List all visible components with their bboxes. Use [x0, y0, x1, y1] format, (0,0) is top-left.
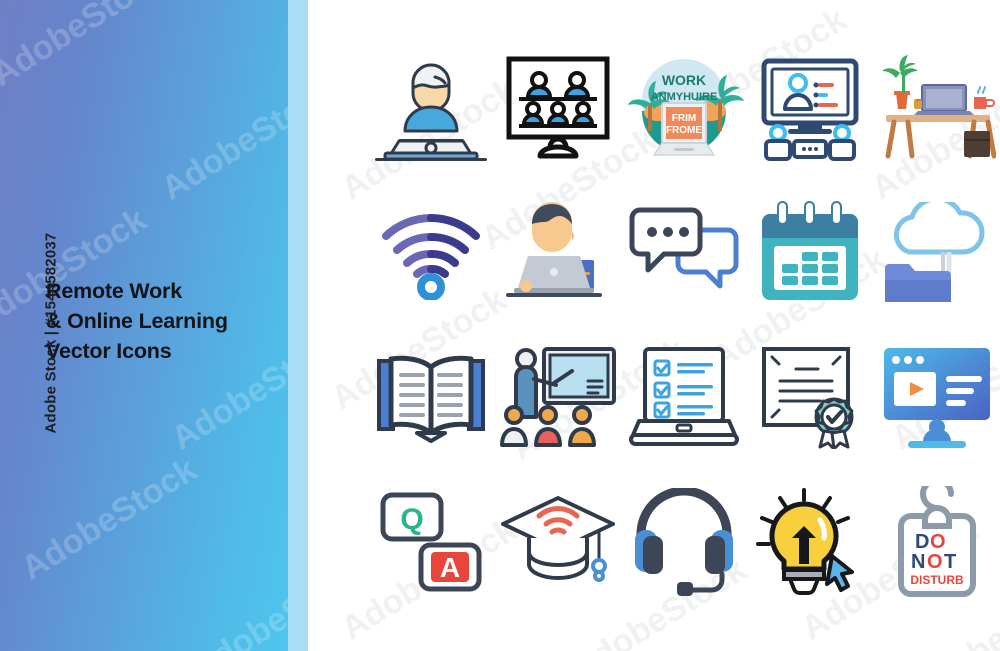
teacher-with-whiteboard-icon [500, 345, 616, 449]
icon-cell-video-conference-grid[interactable] [494, 34, 620, 179]
icon-cell-do-not-disturb-hanger[interactable]: D O N O T DISTURB [874, 469, 1000, 614]
remote-worker-at-desk-icon [502, 200, 614, 304]
accent-strip [288, 0, 308, 651]
online-quiz-checklist-icon [629, 345, 739, 449]
idea-lightbulb-cursor-icon [754, 488, 866, 596]
icon-cell-work-from-anywhere-badge[interactable]: WORK ANMYHUIRE FRIM FROME [621, 34, 747, 179]
dnd-do-letter-o: O [930, 531, 946, 553]
video-lesson-window-icon [880, 344, 994, 450]
video-conference-grid-icon [503, 53, 613, 161]
icon-cell-teacher-with-whiteboard[interactable] [494, 324, 620, 469]
icon-cell-man-working-on-laptop[interactable] [368, 34, 494, 179]
icon-grid: WORK ANMYHUIRE FRIM FROME [368, 34, 1000, 614]
dnd-not-letter-t: T [944, 551, 956, 573]
stock-image-canvas: AdobeStock AdobeStock AdobeStock AdobeSt… [0, 0, 1000, 651]
icon-cell-chat-bubbles[interactable] [621, 179, 747, 324]
answer-card-letter: A [440, 552, 460, 583]
webinar-presentation-screen-icon [754, 53, 866, 161]
icon-cell-online-quiz-checklist[interactable] [621, 324, 747, 469]
question-card-letter: Q [401, 503, 424, 536]
work-badge-screen1: FRIM [672, 113, 696, 124]
wifi-signal-icon [378, 204, 484, 300]
icon-cell-cloud-storage-folder[interactable] [874, 179, 1000, 324]
stock-credit-line: Adobe Stock | #1544582037 [43, 184, 60, 434]
dnd-not-letter-o: O [927, 551, 943, 573]
dnd-disturb-word: DISTURB [910, 573, 964, 587]
work-badge-screen2: FROME [666, 125, 702, 136]
certificate-with-seal-icon [754, 345, 866, 449]
dnd-do-letter-d: D [915, 531, 929, 553]
watermark-text: AdobeStock [185, 550, 288, 651]
chat-bubbles-icon [628, 204, 740, 300]
left-title-panel: AdobeStock AdobeStock AdobeStock AdobeSt… [0, 0, 288, 651]
icon-cell-open-book[interactable] [368, 324, 494, 469]
icon-cell-idea-lightbulb-cursor[interactable] [747, 469, 873, 614]
open-book-icon [375, 349, 487, 445]
headset-with-mic-icon [629, 488, 739, 596]
watermark-text: AdobeStock [0, 0, 174, 95]
home-office-desk-icon [878, 53, 996, 161]
icon-cell-wifi-signal[interactable] [368, 179, 494, 324]
do-not-disturb-hanger-icon: D O N O T DISTURB [889, 486, 985, 598]
man-working-on-laptop-icon [375, 53, 487, 161]
icon-cell-webinar-presentation-screen[interactable] [747, 34, 873, 179]
icon-cell-headset-with-mic[interactable] [621, 469, 747, 614]
icon-cell-remote-worker-at-desk[interactable] [494, 179, 620, 324]
dnd-not-letter-n: N [911, 551, 925, 573]
icon-cell-question-answer-cards[interactable]: Q A [368, 469, 494, 614]
icon-cell-graduation-cap-wifi[interactable] [494, 469, 620, 614]
calendar-schedule-icon [758, 200, 862, 304]
work-badge-line2: ANMYHUIRE [651, 91, 718, 103]
page-title: Remote Work & Online Learning Vector Ico… [46, 276, 286, 366]
work-from-anywhere-badge-icon: WORK ANMYHUIRE FRIM FROME [624, 51, 744, 163]
question-answer-cards-icon: Q A [379, 489, 483, 595]
icon-cell-video-lesson-window[interactable] [874, 324, 1000, 469]
watermark-text: AdobeStock [155, 70, 288, 208]
graduation-cap-wifi-icon [499, 492, 617, 592]
icon-cell-calendar-schedule[interactable] [747, 179, 873, 324]
icon-cell-home-office-desk[interactable] [874, 34, 1000, 179]
watermark-text: AdobeStock [15, 450, 204, 588]
icon-cell-certificate-with-seal[interactable] [747, 324, 873, 469]
work-badge-line1: WORK [662, 72, 706, 88]
cloud-storage-folder-icon [881, 202, 993, 302]
